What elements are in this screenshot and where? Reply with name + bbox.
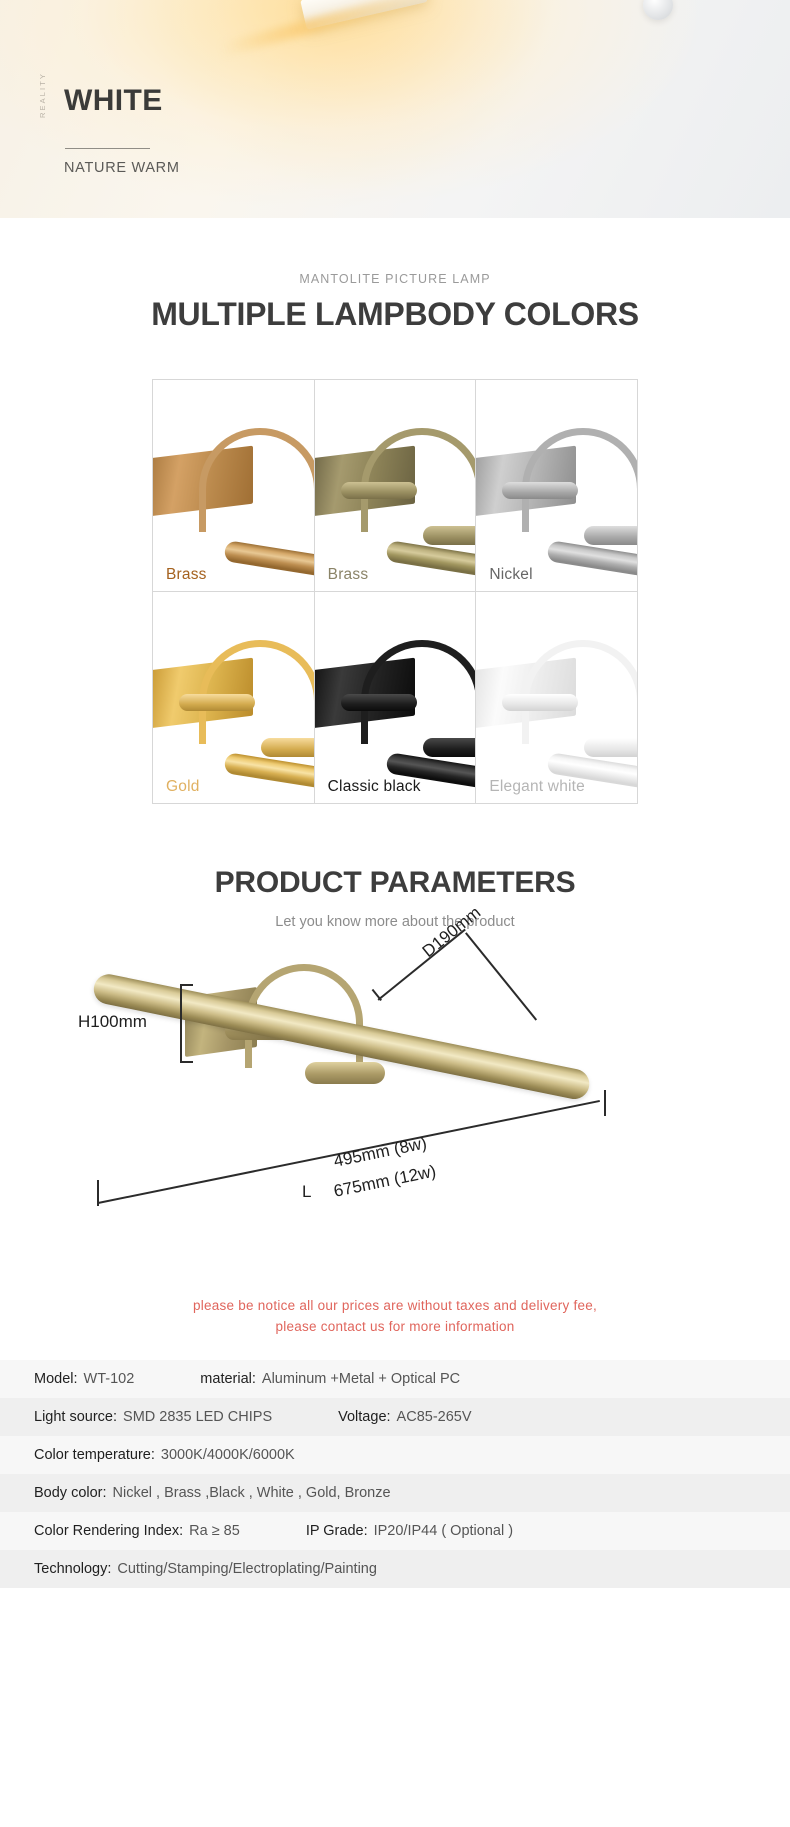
height-dim-tick-bottom <box>180 1061 193 1063</box>
height-dim-label: H100mm <box>78 1012 147 1032</box>
spec-value: AC85-265V <box>397 1409 472 1425</box>
lamp-joint-upper <box>341 482 417 499</box>
color-swatch-cell[interactable]: Elegant white <box>476 592 638 804</box>
lamp-joint-lower <box>584 526 637 545</box>
color-swatch-label: Nickel <box>489 566 532 584</box>
spec-pair: IP Grade:IP20/IP44 ( Optional ) <box>306 1523 513 1539</box>
length-dim-tick-right <box>604 1090 606 1116</box>
lamp-illustration <box>153 592 314 803</box>
lamp-illustration <box>476 380 637 591</box>
lamp-tube <box>223 540 313 591</box>
colors-eyebrow: MANTOLITE PICTURE LAMP <box>0 272 790 286</box>
lamp-joint-upper <box>179 694 255 711</box>
hero-ceiling-light-icon <box>643 0 673 20</box>
parameters-subtitle: Let you know more about the product <box>0 914 790 930</box>
spec-value: Ra ≥ 85 <box>189 1523 240 1539</box>
price-notice-line-1: please be notice all our prices are with… <box>60 1296 730 1317</box>
depth-dim-label: D190mm <box>419 903 485 962</box>
height-dim-line <box>180 984 182 1062</box>
specification-table: Model:WT-102material:Aluminum +Metal + O… <box>0 1360 790 1588</box>
hero-divider <box>65 148 150 149</box>
lamp-tube <box>547 540 637 591</box>
spec-pair: Color temperature:3000K/4000K/6000K <box>34 1447 295 1463</box>
lamp-illustration <box>315 380 476 591</box>
spec-key: Model: <box>34 1371 78 1387</box>
color-swatch-cell[interactable]: Gold <box>153 592 315 804</box>
spec-value: SMD 2835 LED CHIPS <box>123 1409 272 1425</box>
lampbody-color-grid: BrassBrassNickelGoldClassic blackElegant… <box>152 379 638 804</box>
price-notice: please be notice all our prices are with… <box>0 1296 790 1338</box>
color-swatch-cell[interactable]: Brass <box>315 380 477 592</box>
lamp-joint-upper <box>502 482 578 499</box>
price-notice-line-2: please contact us for more information <box>60 1317 730 1338</box>
lamp-joint-lower <box>423 738 476 757</box>
spec-key: Color Rendering Index: <box>34 1523 183 1539</box>
lamp-joint-lower <box>584 738 637 757</box>
spec-row: Light source:SMD 2835 LED CHIPSVoltage:A… <box>0 1398 790 1436</box>
spec-pair: Voltage:AC85-265V <box>338 1409 471 1425</box>
spec-pair: Technology:Cutting/Stamping/Electroplati… <box>34 1561 377 1577</box>
spec-key: material: <box>200 1371 256 1387</box>
spec-key: IP Grade: <box>306 1523 368 1539</box>
spec-row: Body color:Nickel , Brass ,Black , White… <box>0 1474 790 1512</box>
lamp-joint-lower <box>261 526 314 545</box>
spec-pair: Body color:Nickel , Brass ,Black , White… <box>34 1485 391 1501</box>
lamp-arch-arm <box>199 428 314 532</box>
color-swatch-cell[interactable]: Classic black <box>315 592 477 804</box>
color-swatch-label: Elegant white <box>489 778 585 796</box>
hero-vertical-label: REALITY <box>38 72 47 118</box>
length-dim-tick-left <box>97 1180 99 1206</box>
hero-subtitle: NATURE WARM <box>64 160 180 176</box>
lamp-arch-arm <box>522 428 637 532</box>
lamp-tube <box>223 752 313 803</box>
spec-row: Color temperature:3000K/4000K/6000K <box>0 1436 790 1474</box>
hero-title: WHITE <box>64 84 163 118</box>
colors-title: MULTIPLE LAMPBODY COLORS <box>0 296 790 333</box>
spec-row: Technology:Cutting/Stamping/Electroplati… <box>0 1550 790 1588</box>
spec-key: Technology: <box>34 1561 111 1577</box>
spec-row: Model:WT-102material:Aluminum +Metal + O… <box>0 1360 790 1398</box>
lamp-joint-lower <box>261 738 314 757</box>
color-swatch-label: Gold <box>166 778 200 796</box>
spec-value: Nickel , Brass ,Black , White , Gold, Br… <box>113 1485 391 1501</box>
lamp-arch-arm <box>361 428 476 532</box>
spec-key: Body color: <box>34 1485 107 1501</box>
lamp-arch-arm <box>199 640 314 744</box>
spec-key: Color temperature: <box>34 1447 155 1463</box>
spec-value: Aluminum +Metal + Optical PC <box>262 1371 460 1387</box>
hero-banner: REALITY WHITE NATURE WARM <box>0 0 790 218</box>
lamp-illustration <box>476 592 637 803</box>
color-swatch-cell[interactable]: Brass <box>153 380 315 592</box>
lamp-joint-upper <box>341 694 417 711</box>
lamp-joint-lower <box>423 526 476 545</box>
spec-key: Light source: <box>34 1409 117 1425</box>
spec-value: Cutting/Stamping/Electroplating/Painting <box>117 1561 377 1577</box>
spec-value: WT-102 <box>84 1371 135 1387</box>
color-swatch-cell[interactable]: Nickel <box>476 380 638 592</box>
hero-lamp-fixture <box>300 0 428 30</box>
color-swatch-label: Classic black <box>328 778 421 796</box>
color-swatch-label: Brass <box>328 566 369 584</box>
spec-row: Color Rendering Index:Ra ≥ 85IP Grade:IP… <box>0 1512 790 1550</box>
dimension-diagram: H100mm D190mm L 495mm (8w) 675mm (12w) <box>0 944 790 1274</box>
depth-dim-line-b <box>465 932 537 1020</box>
spec-pair: Model:WT-102 <box>34 1371 134 1387</box>
spec-pair: material:Aluminum +Metal + Optical PC <box>200 1371 460 1387</box>
length-dim-prefix: L <box>302 1182 311 1202</box>
spec-pair: Color Rendering Index:Ra ≥ 85 <box>34 1523 240 1539</box>
lamp-illustration <box>153 380 314 591</box>
diagram-joint-lower <box>305 1062 385 1084</box>
lamp-arch-arm <box>361 640 476 744</box>
spec-pair: Light source:SMD 2835 LED CHIPS <box>34 1409 272 1425</box>
parameters-title: PRODUCT PARAMETERS <box>0 866 790 900</box>
color-swatch-label: Brass <box>166 566 207 584</box>
height-dim-tick-top <box>180 984 193 986</box>
product-detail-page: REALITY WHITE NATURE WARM MANTOLITE PICT… <box>0 0 790 1588</box>
lamp-illustration <box>315 592 476 803</box>
lamp-tube <box>385 540 475 591</box>
spec-value: 3000K/4000K/6000K <box>161 1447 295 1463</box>
hero-light-glow <box>140 0 560 190</box>
lamp-arch-arm <box>522 640 637 744</box>
lamp-joint-upper <box>502 694 578 711</box>
spec-key: Voltage: <box>338 1409 390 1425</box>
lamp-joint-upper <box>179 482 255 499</box>
spec-value: IP20/IP44 ( Optional ) <box>374 1523 513 1539</box>
